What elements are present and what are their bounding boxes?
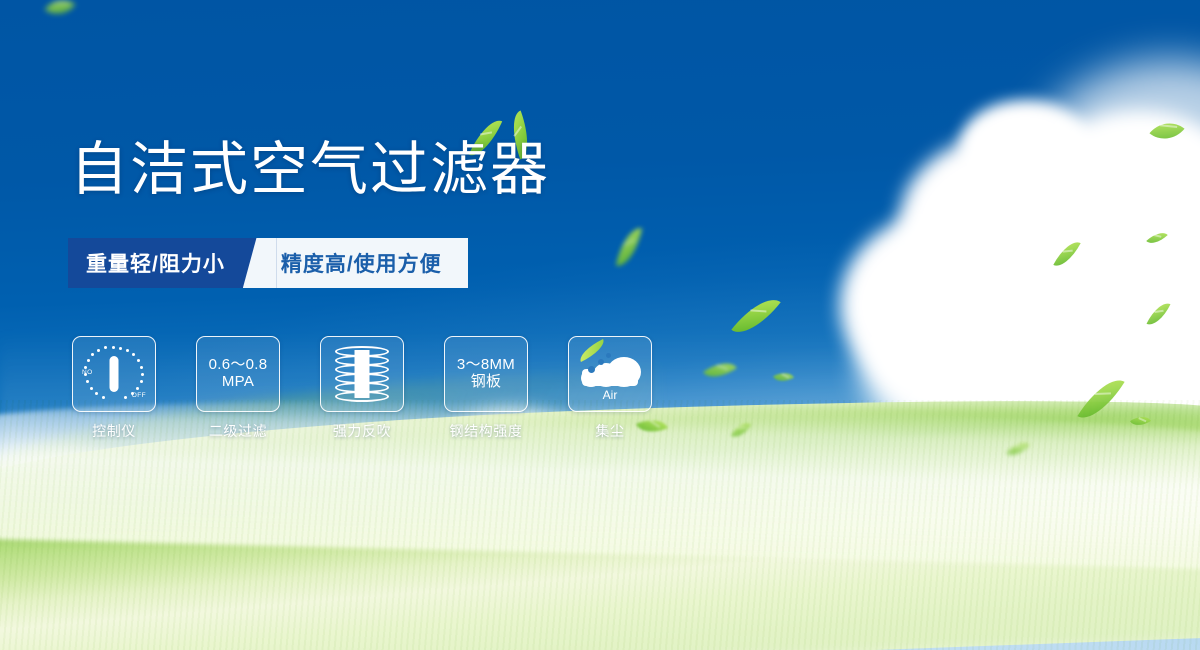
feature-item-controller[interactable]: NO OFF — [72, 336, 156, 441]
feature-item-steel[interactable]: 3～8MM 钢板 钢结构强度 — [444, 336, 528, 441]
feature-icon-box: 3～8MM 钢板 — [444, 336, 528, 412]
steel-line2: 钢板 — [457, 374, 515, 391]
feature-item-two-stage[interactable]: 0.6～0.8 MPA 二级过滤 — [196, 336, 280, 441]
dial-pointer — [110, 356, 119, 392]
feature-list: NO OFF — [72, 336, 652, 441]
pressure-line2: MPA — [209, 374, 268, 391]
steel-text: 3～8MM 钢板 — [457, 357, 515, 391]
subtitle-left: 重量轻/阻力小 — [68, 238, 243, 288]
subtitle-bar: 重量轻/阻力小 精度高/使用方便 — [68, 238, 468, 288]
feature-item-backblow[interactable]: 强力反吹 — [320, 336, 404, 441]
feature-icon-box: NO OFF — [72, 336, 156, 412]
coil-icon — [335, 346, 389, 402]
leaf-swoosh-icon — [576, 339, 608, 362]
feature-item-dust[interactable]: Air 集尘 — [568, 336, 652, 441]
cloud-air-label: Air — [579, 388, 641, 402]
subtitle-divider-wedge — [243, 238, 277, 288]
feature-label: 钢结构强度 — [450, 421, 523, 441]
feature-label: 集尘 — [595, 421, 624, 441]
subtitle-right: 精度高/使用方便 — [277, 238, 468, 288]
feature-label: 强力反吹 — [333, 421, 391, 441]
dial-icon: NO OFF — [84, 345, 144, 403]
pressure-line1: 0.6～0.8 — [209, 357, 268, 374]
cloud-icon: Air — [579, 349, 641, 399]
feature-icon-box: 0.6～0.8 MPA — [196, 336, 280, 412]
banner-stage: 自洁式空气过滤器 重量轻/阻力小 精度高/使用方便 NO OFF — [0, 0, 1200, 650]
page-title: 自洁式空气过滤器 — [70, 141, 550, 199]
feature-label: 控制仪 — [92, 421, 136, 441]
steel-line1: 3～8MM — [457, 357, 515, 374]
feature-icon-box — [320, 336, 404, 412]
feature-icon-box: Air — [568, 336, 652, 412]
feature-label: 二级过滤 — [209, 421, 267, 441]
pressure-text: 0.6～0.8 MPA — [209, 357, 268, 391]
